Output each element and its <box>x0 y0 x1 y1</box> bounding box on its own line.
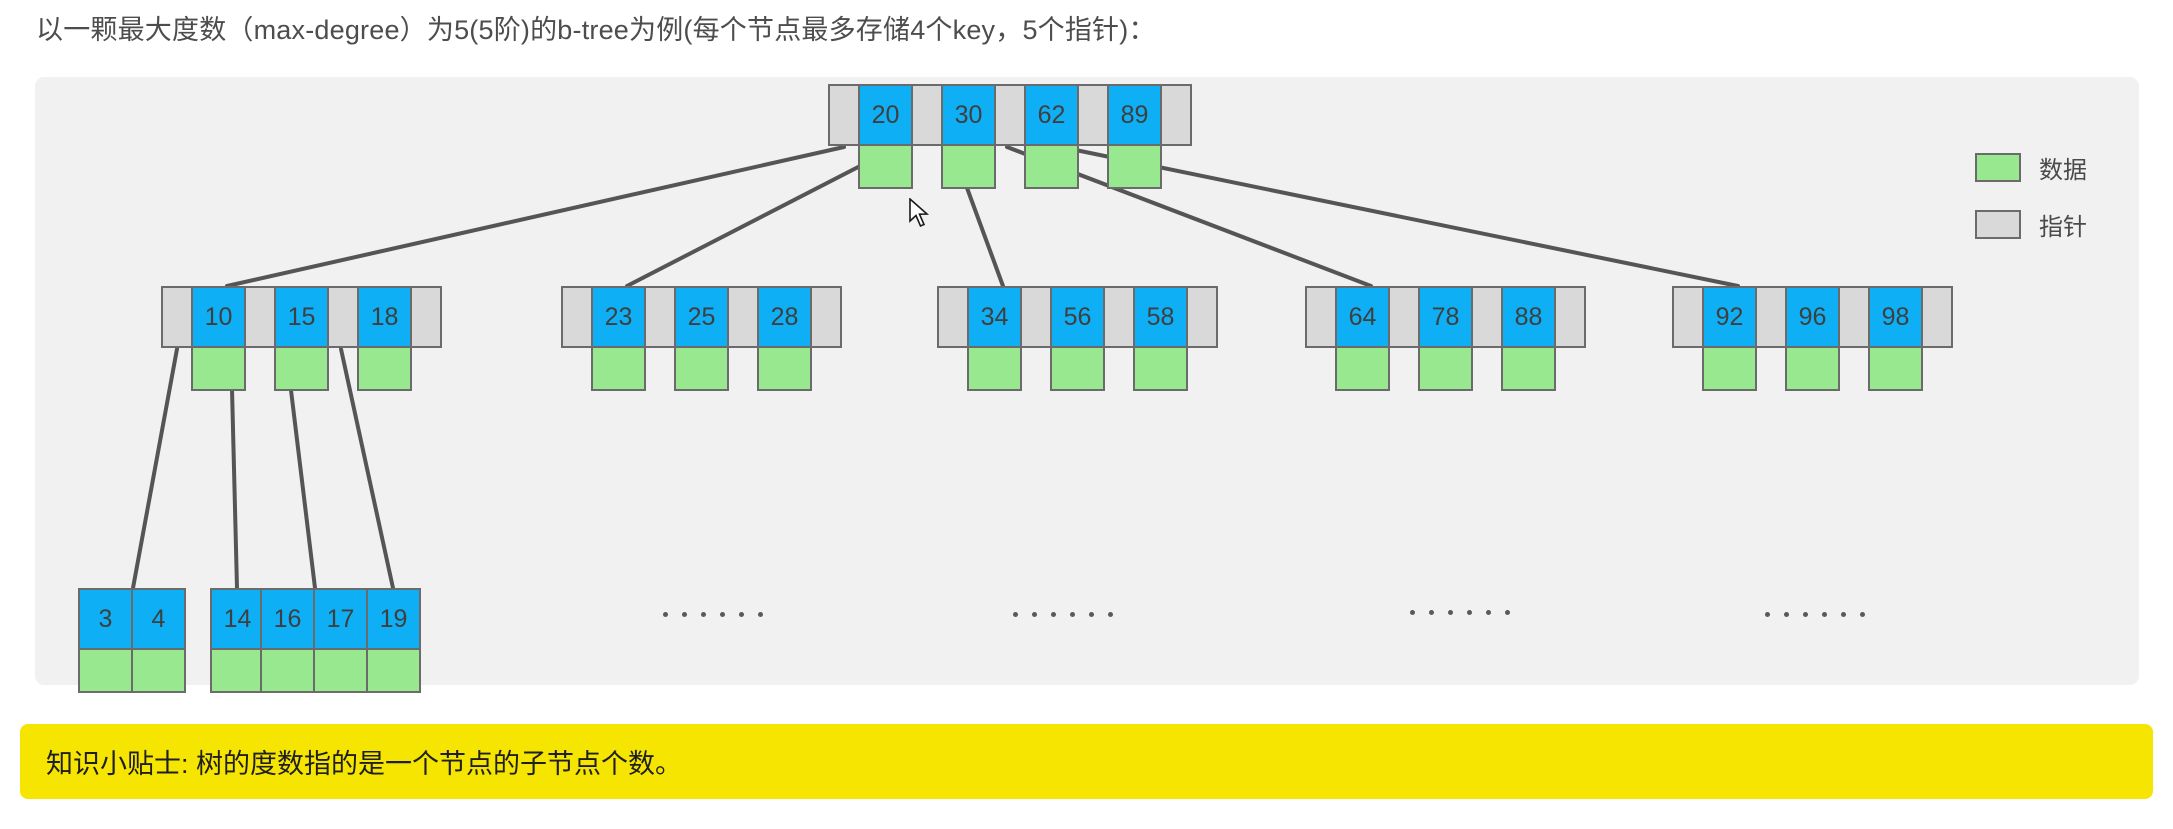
legend: 数据 指针 <box>1975 150 2087 264</box>
pointer-cell <box>727 286 759 348</box>
pointer-cell <box>1186 286 1218 348</box>
pointer-cell <box>1160 84 1192 146</box>
key-data-pair: 3 <box>78 588 133 693</box>
btree-node-internal-c[interactable]: 34 56 58 <box>937 286 1216 391</box>
key-data-pair: 23 <box>591 286 646 391</box>
data-cell <box>1418 348 1473 391</box>
pointer-cell <box>327 286 359 348</box>
btree-node-internal-e[interactable]: 92 96 98 <box>1672 286 1951 391</box>
legend-row-data: 数据 <box>1975 150 2087 185</box>
key-data-pair: 96 <box>1785 286 1840 391</box>
btree-node-internal-b[interactable]: 23 25 28 <box>561 286 840 391</box>
data-cell <box>941 146 996 189</box>
pointer-cell <box>410 286 442 348</box>
key-cell: 56 <box>1050 286 1105 348</box>
data-cell <box>274 348 329 391</box>
ellipsis-dot <box>739 612 744 617</box>
pointer-cell <box>994 84 1026 146</box>
data-cell <box>313 650 368 693</box>
key-cell: 96 <box>1785 286 1840 348</box>
key-cell: 15 <box>274 286 329 348</box>
ellipsis-dot <box>1051 612 1056 617</box>
btree-node-leaf-d[interactable]: 19 <box>366 588 419 693</box>
data-cell <box>1024 146 1079 189</box>
ellipsis-dot <box>1070 612 1075 617</box>
key-data-pair: 58 <box>1133 286 1188 391</box>
key-cell: 89 <box>1107 84 1162 146</box>
data-swatch-icon <box>1975 153 2021 182</box>
data-cell <box>674 348 729 391</box>
pointer-cell <box>1755 286 1787 348</box>
data-cell <box>757 348 812 391</box>
pointer-cell <box>911 84 943 146</box>
key-cell: 34 <box>967 286 1022 348</box>
ellipsis-group-e <box>1765 612 1865 617</box>
pointer-cell <box>1305 286 1337 348</box>
data-cell <box>1133 348 1188 391</box>
key-data-pair: 64 <box>1335 286 1390 391</box>
btree-diagram-panel: 20 30 62 89 10 <box>35 77 2139 685</box>
ellipsis-dot <box>1860 612 1865 617</box>
key-data-pair: 16 <box>260 588 315 693</box>
pointer-cell <box>1471 286 1503 348</box>
ellipsis-dot <box>758 612 763 617</box>
ellipsis-dot <box>1032 612 1037 617</box>
key-data-pair: 15 <box>274 286 329 391</box>
pointer-cell <box>1672 286 1704 348</box>
data-cell <box>191 348 246 391</box>
ellipsis-dot <box>1429 610 1434 615</box>
data-cell <box>260 650 315 693</box>
pointer-cell <box>1388 286 1420 348</box>
pointer-cell <box>644 286 676 348</box>
btree-node-root[interactable]: 20 30 62 89 <box>828 84 1190 189</box>
key-data-pair: 98 <box>1868 286 1923 391</box>
key-cell: 28 <box>757 286 812 348</box>
btree-node-internal-d[interactable]: 64 78 88 <box>1305 286 1584 391</box>
btree-node-leaf-a[interactable]: 3 4 <box>78 588 184 693</box>
tip-text: 知识小贴士: 树的度数指的是一个节点的子节点个数。 <box>46 742 682 781</box>
ellipsis-dot <box>1803 612 1808 617</box>
ellipsis-dot <box>663 612 668 617</box>
ellipsis-dot <box>1822 612 1827 617</box>
data-cell <box>131 650 186 693</box>
data-cell <box>1050 348 1105 391</box>
key-cell: 78 <box>1418 286 1473 348</box>
ellipsis-dot <box>1784 612 1789 617</box>
ellipsis-dot <box>1505 610 1510 615</box>
pointer-cell <box>1838 286 1870 348</box>
pointer-cell <box>1103 286 1135 348</box>
ellipsis-dot <box>1486 610 1491 615</box>
key-data-pair: 4 <box>131 588 186 693</box>
key-data-pair: 78 <box>1418 286 1473 391</box>
key-cell: 64 <box>1335 286 1390 348</box>
data-cell <box>1335 348 1390 391</box>
key-data-pair: 62 <box>1024 84 1079 189</box>
data-cell <box>366 650 421 693</box>
btree-node-internal-a[interactable]: 10 15 18 <box>161 286 440 391</box>
key-data-pair: 17 <box>313 588 368 693</box>
pointer-cell <box>1077 84 1109 146</box>
key-data-pair: 18 <box>357 286 412 391</box>
key-cell: 10 <box>191 286 246 348</box>
key-cell: 58 <box>1133 286 1188 348</box>
key-cell: 18 <box>357 286 412 348</box>
key-cell: 62 <box>1024 84 1079 146</box>
key-cell: 30 <box>941 84 996 146</box>
ellipsis-dot <box>1841 612 1846 617</box>
pointer-cell <box>161 286 193 348</box>
pointer-cell <box>561 286 593 348</box>
mouse-cursor-icon <box>908 198 930 228</box>
pointer-cell <box>828 84 860 146</box>
key-cell: 25 <box>674 286 729 348</box>
ellipsis-group-d <box>1410 610 1510 615</box>
key-data-pair: 14 <box>210 588 265 693</box>
pointer-cell <box>810 286 842 348</box>
ellipsis-group-c <box>1013 612 1113 617</box>
key-data-pair: 28 <box>757 286 812 391</box>
data-cell <box>1785 348 1840 391</box>
key-cell: 23 <box>591 286 646 348</box>
key-cell: 88 <box>1501 286 1556 348</box>
key-data-pair: 20 <box>858 84 913 189</box>
ellipsis-dot <box>1765 612 1770 617</box>
pointer-cell <box>244 286 276 348</box>
page-title: 以一颗最大度数（max-degree）为5(5阶)的b-tree为例(每个节点最… <box>36 8 2136 52</box>
data-cell <box>78 650 133 693</box>
data-cell <box>1702 348 1757 391</box>
key-data-pair: 88 <box>1501 286 1556 391</box>
ellipsis-dot <box>720 612 725 617</box>
pointer-cell <box>1921 286 1953 348</box>
ellipsis-dot <box>1013 612 1018 617</box>
data-cell <box>210 650 265 693</box>
ellipsis-dot <box>701 612 706 617</box>
key-data-pair: 34 <box>967 286 1022 391</box>
ellipsis-group-b <box>663 612 763 617</box>
ellipsis-dot <box>1467 610 1472 615</box>
data-cell <box>1501 348 1556 391</box>
key-cell: 14 <box>210 588 265 650</box>
ellipsis-dot <box>1410 610 1415 615</box>
key-data-pair: 30 <box>941 84 996 189</box>
key-cell: 92 <box>1702 286 1757 348</box>
data-cell <box>967 348 1022 391</box>
ellipsis-dot <box>1448 610 1453 615</box>
key-cell: 98 <box>1868 286 1923 348</box>
key-cell: 19 <box>366 588 421 650</box>
key-cell: 3 <box>78 588 133 650</box>
data-cell <box>357 348 412 391</box>
btree-node-leaf-c[interactable]: 16 17 <box>260 588 366 693</box>
pointer-cell <box>1554 286 1586 348</box>
pointer-cell <box>937 286 969 348</box>
legend-label-data: 数据 <box>2039 150 2087 185</box>
tip-banner: 知识小贴士: 树的度数指的是一个节点的子节点个数。 <box>20 724 2153 799</box>
legend-row-pointer: 指针 <box>1975 207 2087 242</box>
key-data-pair: 25 <box>674 286 729 391</box>
ellipsis-dot <box>1108 612 1113 617</box>
key-data-pair: 89 <box>1107 84 1162 189</box>
data-cell <box>1868 348 1923 391</box>
data-cell <box>1107 146 1162 189</box>
key-cell: 17 <box>313 588 368 650</box>
screenshot-root: 以一颗最大度数（max-degree）为5(5阶)的b-tree为例(每个节点最… <box>0 0 2173 829</box>
ellipsis-dot <box>682 612 687 617</box>
key-data-pair: 92 <box>1702 286 1757 391</box>
key-data-pair: 10 <box>191 286 246 391</box>
pointer-swatch-icon <box>1975 210 2021 239</box>
ellipsis-dot <box>1089 612 1094 617</box>
pointer-cell <box>1020 286 1052 348</box>
key-cell: 16 <box>260 588 315 650</box>
key-data-pair: 19 <box>366 588 421 693</box>
btree-node-leaf-b[interactable]: 14 <box>210 588 263 693</box>
key-data-pair: 56 <box>1050 286 1105 391</box>
key-cell: 20 <box>858 84 913 146</box>
data-cell <box>858 146 913 189</box>
key-cell: 4 <box>131 588 186 650</box>
data-cell <box>591 348 646 391</box>
legend-label-pointer: 指针 <box>2039 207 2087 242</box>
